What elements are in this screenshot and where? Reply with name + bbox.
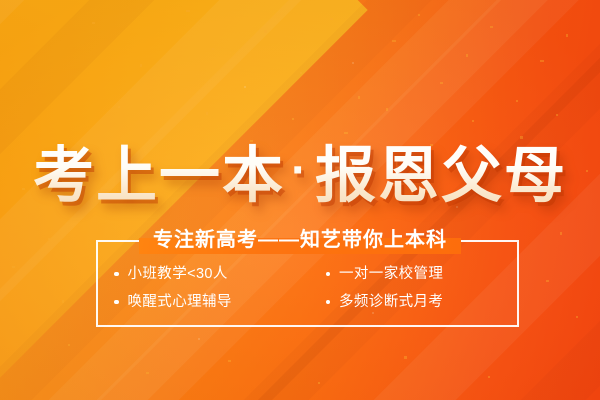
- bullet-icon: [326, 300, 331, 305]
- banner-subtitle: 专注新高考——知艺带你上本科: [153, 229, 447, 251]
- bullet-icon: [114, 272, 119, 277]
- feature-item-psychological-counseling: 唤醒式心理辅导: [114, 291, 308, 313]
- headline-right-text: 报恩父母: [315, 141, 567, 209]
- feature-label: 唤醒式心理辅导: [128, 291, 232, 313]
- feature-label: 多频诊断式月考: [339, 291, 443, 313]
- bullet-icon: [326, 272, 331, 277]
- feature-item-home-school-management: 一对一家校管理: [308, 263, 502, 285]
- feature-item-small-class: 小班教学<30人: [114, 263, 308, 285]
- feature-label: 一对一家校管理: [339, 263, 443, 285]
- bullet-icon: [114, 300, 119, 305]
- headline-container: 考上一本·报恩父母: [0, 136, 600, 210]
- subtitle-container: 专注新高考——知艺带你上本科: [0, 229, 600, 251]
- headline-separator-dot: ·: [285, 144, 315, 197]
- promo-banner: 考上一本·报恩父母 专注新高考——知艺带你上本科 小班教学<30人 一对一家校管…: [0, 0, 600, 400]
- subtitle-inner: 专注新高考——知艺带你上本科: [139, 229, 461, 251]
- headline-left-text: 考上一本: [33, 141, 285, 209]
- banner-headline: 考上一本·报恩父母: [33, 136, 567, 210]
- feature-list: 小班教学<30人 一对一家校管理 唤醒式心理辅导 多频诊断式月考: [96, 263, 519, 313]
- feature-label: 小班教学<30人: [128, 263, 228, 285]
- feature-item-monthly-exams: 多频诊断式月考: [308, 291, 502, 313]
